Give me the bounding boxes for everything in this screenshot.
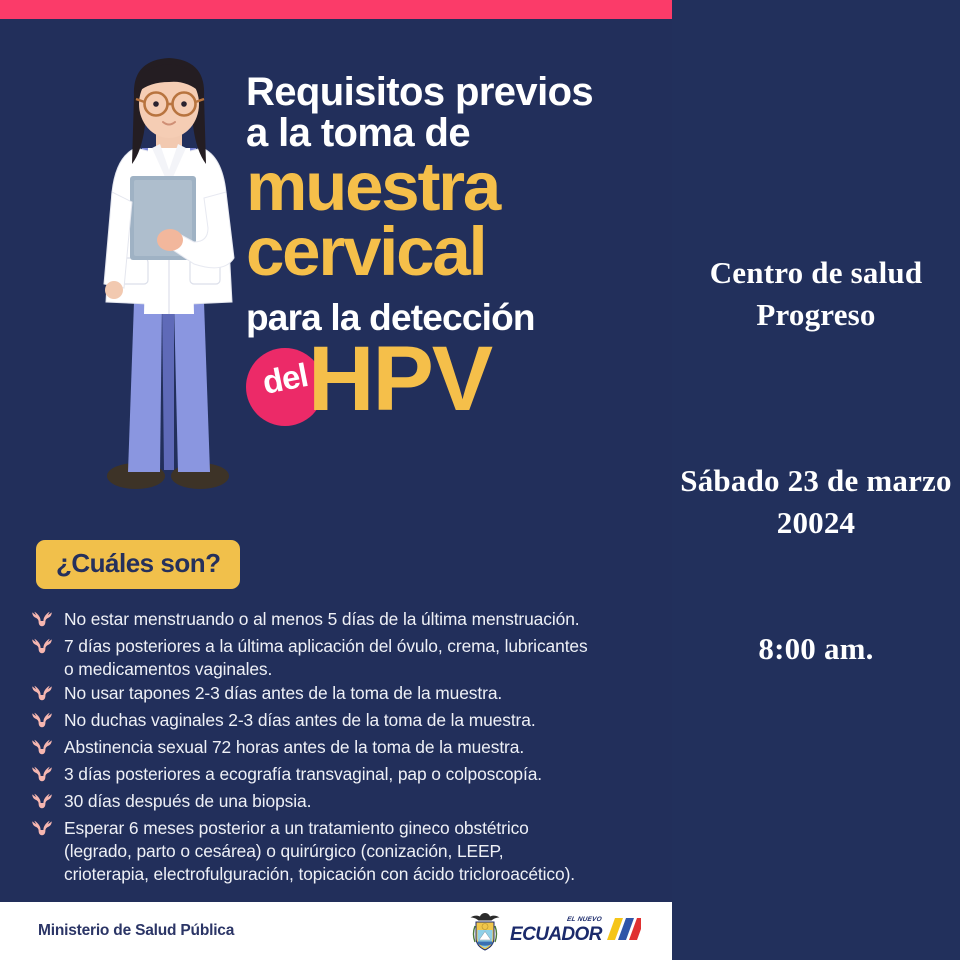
event-time: 8:00 am. [672, 628, 960, 670]
list-item-text: Abstinencia sexual 72 horas antes de la … [64, 736, 524, 759]
list-item-text: No estar menstruando o al menos 5 días d… [64, 608, 580, 631]
event-date: Sábado 23 de marzo 20024 [672, 460, 960, 544]
list-item-text: 7 días posteriores a la última aplicació… [64, 635, 588, 681]
wordmark-text-group: EL NUEVO ECUADOR [510, 925, 602, 945]
headline-word-muestra: muestra [246, 154, 666, 220]
female-doctor-illustration [74, 52, 264, 502]
uterus-icon [30, 817, 64, 843]
uterus-icon [30, 608, 64, 634]
requirements-list: No estar menstruando o al menos 5 días d… [30, 608, 650, 887]
coat-of-arms-icon [468, 910, 502, 952]
ecuador-flag-stripes-icon [607, 918, 641, 945]
uterus-icon [30, 682, 64, 708]
list-item-text: No usar tapones 2-3 días antes de la tom… [64, 682, 502, 705]
headline-line-1: Requisitos previos [246, 72, 666, 113]
ministry-label: Ministerio de Salud Pública [38, 922, 234, 940]
list-item: No usar tapones 2-3 días antes de la tom… [30, 682, 650, 708]
event-venue: Centro de salud Progreso [672, 252, 960, 336]
list-item: 7 días posteriores a la última aplicació… [30, 635, 650, 681]
brand-main-label: ECUADOR [510, 924, 602, 945]
list-item-text: 3 días posteriores a ecografía transvagi… [64, 763, 542, 786]
hpv-lockup: del HPV [246, 340, 666, 432]
uterus-icon [30, 790, 64, 816]
list-item-text: 30 días después de una biopsia. [64, 790, 311, 813]
list-item: 3 días posteriores a ecografía transvagi… [30, 763, 650, 789]
poster-headline: Requisitos previos a la toma de muestra … [246, 72, 666, 432]
ecuador-government-logo: EL NUEVO ECUADOR [468, 910, 641, 952]
el-nuevo-ecuador-wordmark: EL NUEVO ECUADOR [510, 918, 641, 945]
poster-canvas: Centro de salud Progreso Sábado 23 de ma… [0, 0, 960, 960]
headline-word-cervical: cervical [246, 219, 666, 285]
list-item: Esperar 6 meses posterior a un tratamien… [30, 817, 650, 886]
list-item: 30 días después de una biopsia. [30, 790, 650, 816]
list-item: Abstinencia sexual 72 horas antes de la … [30, 736, 650, 762]
poster-card: Requisitos previos a la toma de muestra … [0, 0, 672, 960]
uterus-icon [30, 763, 64, 789]
top-accent-stripe [0, 0, 672, 19]
brand-top-label: EL NUEVO [567, 916, 603, 923]
cuales-son-badge: ¿Cuáles son? [36, 540, 240, 589]
uterus-icon [30, 736, 64, 762]
event-info-panel: Centro de salud Progreso Sábado 23 de ma… [672, 0, 960, 960]
uterus-icon [30, 709, 64, 735]
list-item-text: Esperar 6 meses posterior a un tratamien… [64, 817, 575, 886]
list-item: No estar menstruando o al menos 5 días d… [30, 608, 650, 634]
list-item: No duchas vaginales 2-3 días antes de la… [30, 709, 650, 735]
hpv-label: HPV [308, 333, 491, 425]
list-item-text: No duchas vaginales 2-3 días antes de la… [64, 709, 536, 732]
poster-footer: Ministerio de Salud Pública [0, 902, 672, 960]
uterus-icon [30, 635, 64, 661]
